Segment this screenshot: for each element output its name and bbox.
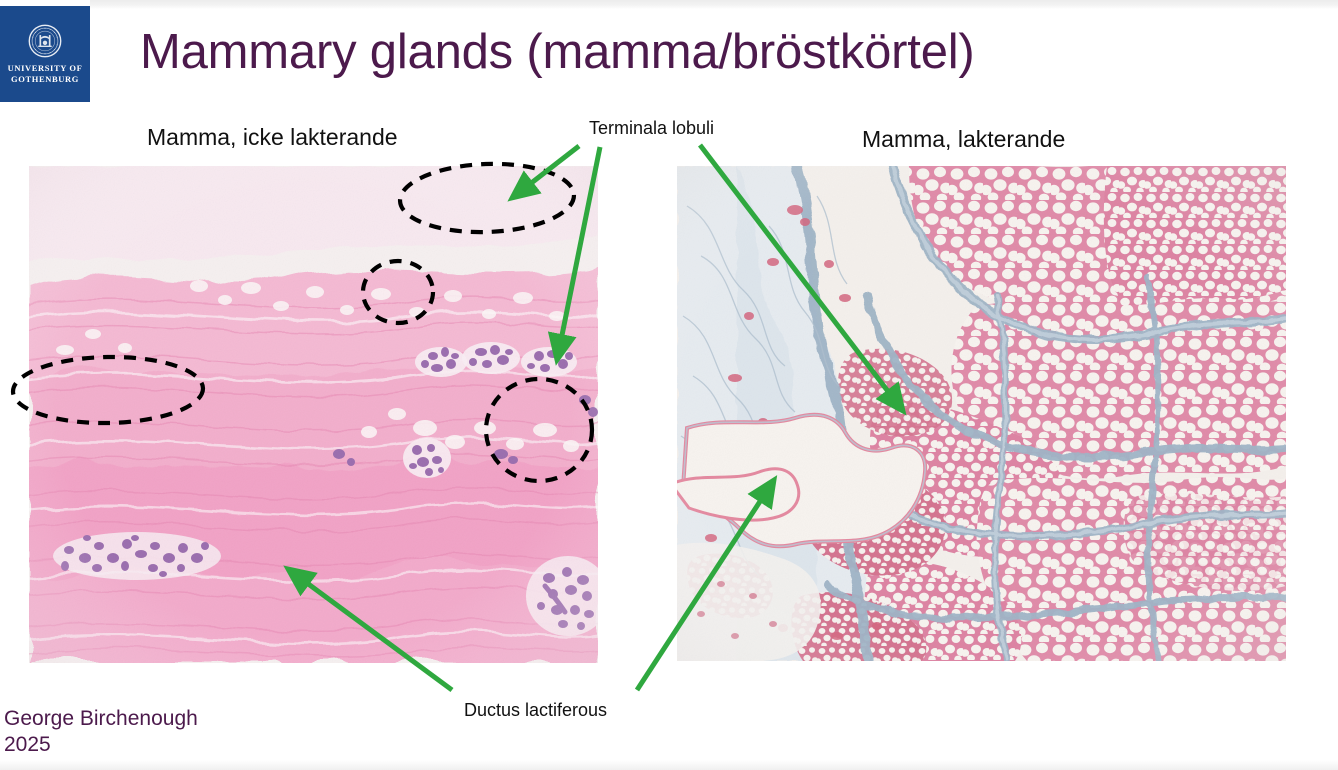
footer-credit: George Birchenough 2025 [4,706,198,758]
lactating-histology-svg [677,166,1286,661]
slide-title: Mammary glands (mamma/bröstkörtel) [140,22,975,82]
university-seal-icon [28,24,62,58]
slide-canvas: UNIVERSITY OF GOTHENBURG Mammary glands … [0,0,1338,770]
label-ductus-lactiferous: Ductus lactiferous [464,700,607,721]
caption-lactating: Mamma, lakterande [862,126,1065,153]
non-lactating-histology-svg [29,166,598,663]
micrograph-lactating-mammary-gland [677,166,1286,661]
bottom-edge-band [0,760,1338,770]
university-of-gothenburg-logo: UNIVERSITY OF GOTHENBURG [0,6,90,102]
logo-line-2: GOTHENBURG [8,74,83,85]
footer-author: George Birchenough [4,706,198,732]
micrograph-non-lactating-mammary-gland [29,166,598,663]
logo-line-1: UNIVERSITY OF [8,63,83,74]
footer-year: 2025 [4,732,198,758]
caption-non-lactating: Mamma, icke lakterande [147,124,398,151]
top-edge-band [90,0,1338,9]
label-terminala-lobuli: Terminala lobuli [589,118,714,139]
